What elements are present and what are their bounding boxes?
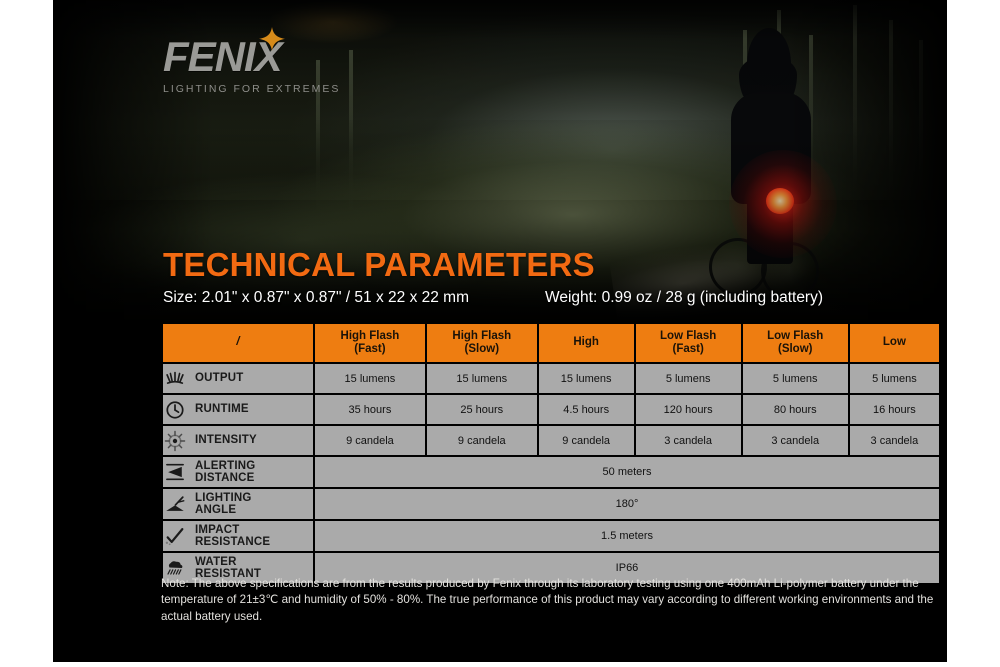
cell-value: 15 lumens — [427, 364, 537, 393]
column-header-text: / — [236, 336, 239, 348]
column-header-text: High Flash — [341, 330, 400, 342]
row-label: OUTPUT — [195, 372, 243, 384]
cell-value: 5 lumens — [850, 364, 939, 393]
row-label: LIGHTINGANGLE — [195, 492, 252, 516]
table-header: / High Flash (Fast) High Flash (Slow) Hi… — [163, 324, 939, 362]
cell-value-merged: 50 meters — [315, 457, 939, 487]
page-title: TECHNICAL PARAMETERS — [163, 246, 595, 284]
light-burst-icon — [163, 368, 187, 390]
column-header-text: Low Flash — [767, 330, 823, 342]
cell-value: 15 lumens — [539, 364, 634, 393]
column-header-subtext: (Slow) — [465, 343, 500, 355]
column-header-text: Low — [883, 336, 906, 348]
cell-value: 9 candela — [315, 426, 425, 455]
row-header-alerting-distance: ALERTINGDISTANCE — [163, 457, 313, 487]
size-weight-line: Size: 2.01" x 0.87" x 0.87" / 51 x 22 x … — [163, 289, 943, 307]
cell-value: 9 candela — [539, 426, 634, 455]
row-label: ALERTINGDISTANCE — [195, 460, 255, 484]
technical-parameters-table: / High Flash (Fast) High Flash (Slow) Hi… — [161, 322, 941, 585]
cell-value: 80 hours — [743, 395, 848, 424]
weight-text: Weight: 0.99 oz / 28 g (including batter… — [545, 289, 823, 307]
beam-angle-icon — [163, 493, 187, 515]
cell-value: 25 hours — [427, 395, 537, 424]
column-header-low: Low — [850, 324, 939, 362]
beam-flag-icon — [163, 461, 187, 483]
cell-value: 5 lumens — [743, 364, 848, 393]
column-header-text: High Flash — [452, 330, 511, 342]
table-header-row: / High Flash (Fast) High Flash (Slow) Hi… — [163, 324, 939, 362]
size-text: Size: 2.01" x 0.87" x 0.87" / 51 x 22 x … — [163, 289, 545, 307]
table-row: RUNTIME 35 hours 25 hours 4.5 hours 120 … — [163, 395, 939, 424]
cell-value-merged: 180° — [315, 489, 939, 519]
hero-banner: FENIX LIGHTING FOR EXTREMES TECHNICAL PA… — [53, 0, 947, 662]
table-row: LIGHTINGANGLE 180° — [163, 489, 939, 519]
row-label-line2: RESISTANCE — [195, 536, 270, 548]
table-row: ALERTINGDISTANCE 50 meters — [163, 457, 939, 487]
row-header-impact-resistance: IMPACTRESISTANCE — [163, 521, 313, 551]
fenix-logo: FENIX LIGHTING FOR EXTREMES — [163, 36, 363, 98]
column-header-high-flash-fast: High Flash (Fast) — [315, 324, 425, 362]
row-label-line2: ANGLE — [195, 504, 236, 516]
cell-value: 15 lumens — [315, 364, 425, 393]
brand-tagline: LIGHTING FOR EXTREMES — [163, 83, 363, 95]
column-header-text: Low Flash — [660, 330, 716, 342]
column-header-label: / — [163, 324, 313, 362]
row-label-line1: WATER — [195, 556, 237, 568]
cell-value: 16 hours — [850, 395, 939, 424]
cell-value: 9 candela — [427, 426, 537, 455]
row-label-line1: IMPACT — [195, 524, 239, 536]
cell-value: 4.5 hours — [539, 395, 634, 424]
cell-value: 3 candela — [743, 426, 848, 455]
row-header-lighting-angle: LIGHTINGANGLE — [163, 489, 313, 519]
row-label: RUNTIME — [195, 403, 249, 415]
table-body: OUTPUT 15 lumens 15 lumens 15 lumens 5 l… — [163, 364, 939, 583]
row-header-runtime: RUNTIME — [163, 395, 313, 424]
column-header-low-flash-fast: Low Flash (Fast) — [636, 324, 741, 362]
four-point-star-icon — [259, 27, 285, 53]
row-label-line2: DISTANCE — [195, 472, 255, 484]
cell-value: 5 lumens — [636, 364, 741, 393]
row-label: INTENSITY — [195, 434, 257, 446]
row-label: IMPACTRESISTANCE — [195, 524, 270, 548]
cell-value: 3 candela — [636, 426, 741, 455]
row-header-intensity: INTENSITY — [163, 426, 313, 455]
row-label-line1: ALERTING — [195, 460, 255, 472]
table-row: OUTPUT 15 lumens 15 lumens 15 lumens 5 l… — [163, 364, 939, 393]
crosshair-icon — [163, 430, 187, 452]
column-header-high: High — [539, 324, 634, 362]
footnote: Note: The above specifications are from … — [161, 576, 943, 625]
column-header-low-flash-slow: Low Flash (Slow) — [743, 324, 848, 362]
cell-value: 35 hours — [315, 395, 425, 424]
cell-value: 120 hours — [636, 395, 741, 424]
table-row: IMPACTRESISTANCE 1.5 meters — [163, 521, 939, 551]
row-header-output: OUTPUT — [163, 364, 313, 393]
column-header-high-flash-slow: High Flash (Slow) — [427, 324, 537, 362]
row-label-line1: LIGHTING — [195, 492, 252, 504]
cell-value-merged: 1.5 meters — [315, 521, 939, 551]
cell-value: 3 candela — [850, 426, 939, 455]
product-spec-page: FENIX LIGHTING FOR EXTREMES TECHNICAL PA… — [0, 0, 1000, 667]
impact-check-icon — [163, 525, 187, 547]
column-header-subtext: (Fast) — [354, 343, 385, 355]
column-header-subtext: (Slow) — [778, 343, 813, 355]
column-header-text: High — [573, 336, 599, 348]
table-row: INTENSITY 9 candela 9 candela 9 candela … — [163, 426, 939, 455]
clock-icon — [163, 399, 187, 421]
column-header-subtext: (Fast) — [672, 343, 703, 355]
